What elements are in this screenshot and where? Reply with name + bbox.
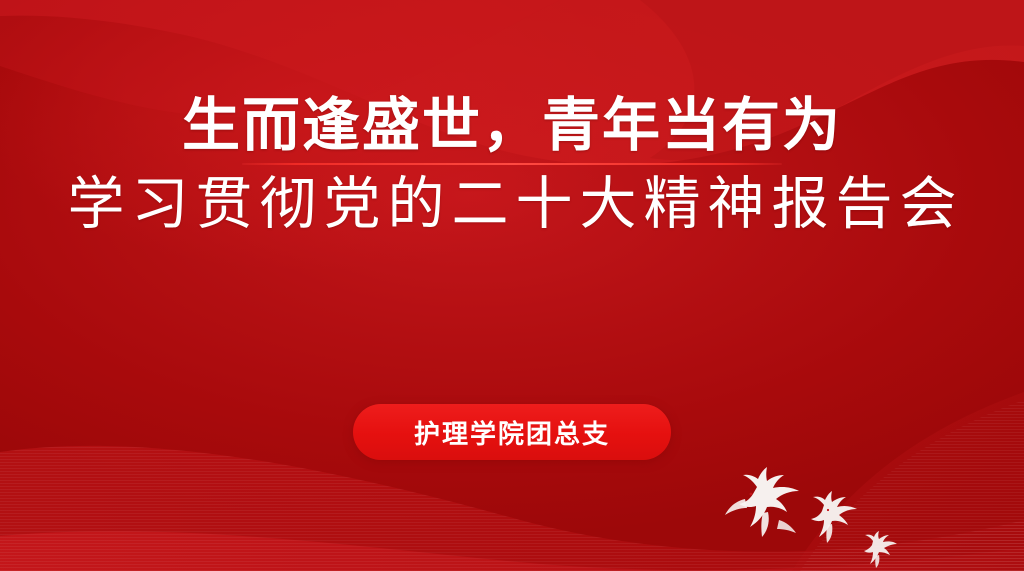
page-subtitle: 学习贯彻党的二十大精神报告会 bbox=[61, 175, 964, 235]
poster-canvas: 生而逢盛世，青年当有为 学习贯彻党的二十大精神报告会 护理学院团总支 bbox=[0, 0, 1024, 571]
poster-content: 生而逢盛世，青年当有为 学习贯彻党的二十大精神报告会 bbox=[0, 0, 1024, 571]
organizer-badge[interactable]: 护理学院团总支 bbox=[353, 404, 671, 460]
page-title: 生而逢盛世，青年当有为 bbox=[182, 96, 842, 155]
organizer-badge-label: 护理学院团总支 bbox=[414, 414, 610, 451]
title-divider-rule bbox=[242, 163, 782, 165]
